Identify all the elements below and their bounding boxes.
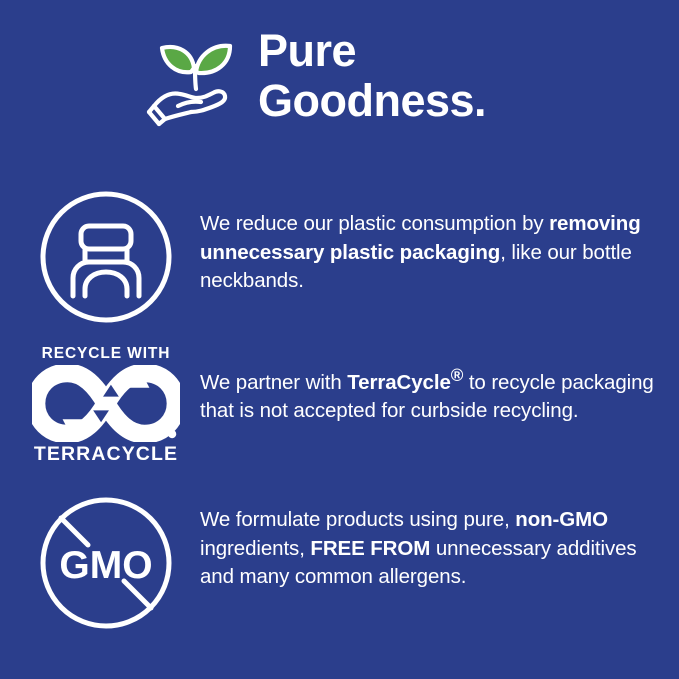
gmo-label: GMO [59,544,152,587]
terracycle-logo-top-word: RECYCLE WITH [42,345,171,362]
feature-icon-cell: RECYCLE WITH [0,345,200,465]
feature-description-terracycle: We partner with TerraCycle® to recycle p… [200,362,667,426]
page-title: Pure Goodness. [258,26,486,126]
feature-row-plastic: We reduce our plastic consumption by rem… [0,190,679,324]
feature-text-cell: We partner with TerraCycle® to recycle p… [200,345,679,426]
no-gmo-circle-icon: GMO [39,496,173,630]
terracycle-logo-icon: RECYCLE WITH [32,345,180,465]
hand-holding-sprout-icon [146,32,246,132]
feature-icon-cell: GMO [0,496,200,630]
terracycle-logo-bottom-word: TERRACYCLE [34,444,178,465]
bottle-neckband-circle-icon [39,190,173,324]
feature-description-plastic: We reduce our plastic consumption by rem… [200,210,667,296]
header: Pure Goodness. [0,26,679,146]
feature-text-cell: We formulate products using pure, non-GM… [200,496,679,592]
feature-icon-cell [0,190,200,324]
feature-row-terracycle: RECYCLE WITH [0,345,679,465]
pure-goodness-poster: Pure Goodness. We reduce ou [0,0,679,679]
feature-description-gmo: We formulate products using pure, non-GM… [200,506,667,592]
feature-row-gmo: GMO We formulate products using pure, no… [0,496,679,630]
infinity-recycle-arrows-icon [32,365,180,442]
feature-text-cell: We reduce our plastic consumption by rem… [200,190,679,296]
